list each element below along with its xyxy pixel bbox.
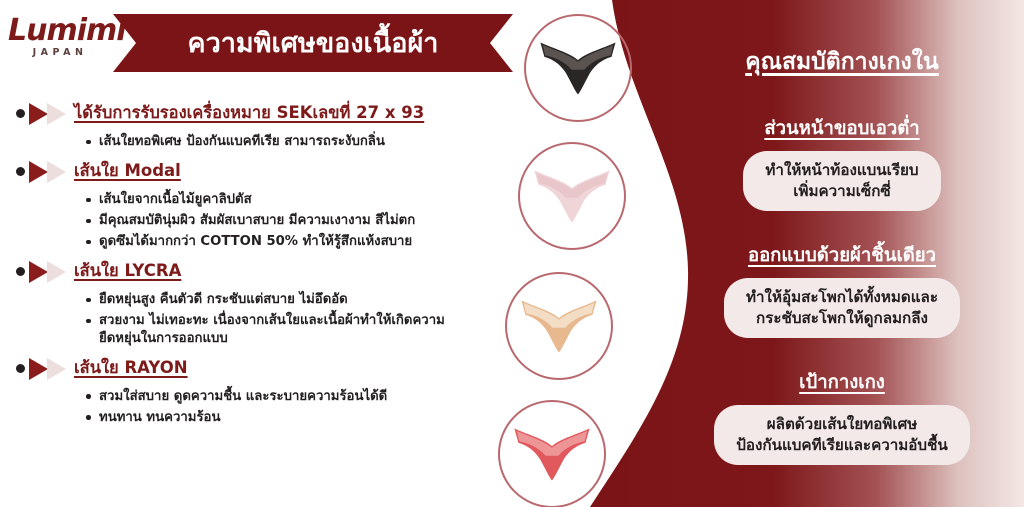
product-photo-black-lace bbox=[524, 14, 632, 122]
feature-sublist: สวมใส่สบาย ดูดความชื้น และระบายความร้อนไ… bbox=[0, 388, 500, 427]
infographic-canvas: Lumimi JAPAN ความพิเศษของเนื้อผ้า ได้รับ… bbox=[0, 0, 1024, 507]
fabric-features-list: ได้รับการรับรองเครื่องหมาย SEKเลขที่ 27 … bbox=[0, 96, 500, 430]
header-ribbon-banner: ความพิเศษของเนื้อผ้า bbox=[113, 14, 513, 72]
section-callout: ผลิตด้วยเส้นใยทอพิเศษ ป้องกันแบคทีเรียแล… bbox=[714, 405, 970, 465]
arrow-bullet-icon bbox=[14, 156, 74, 186]
property-section: เป้ากางเกง ผลิตด้วยเส้นใยทอพิเศษ ป้องกัน… bbox=[660, 368, 1024, 465]
list-item: เส้นใยทอพิเศษ ป้องกันแบคทีเรีย สามารถระง… bbox=[86, 133, 459, 151]
list-item: ดูดซึมได้มากกว่า COTTON 50% ทำให้รู้สึกแ… bbox=[86, 233, 459, 251]
feature-block: เส้นใย Modal เส้นใยจากเนื้อไม้ยูคาลิปตัส… bbox=[0, 154, 500, 251]
panty-illustration bbox=[512, 422, 592, 485]
list-item: สวยงาม ไม่เทอะทะ เนื่องจากเส้นใยและเนื้อ… bbox=[86, 312, 459, 347]
section-title: เป้ากางเกง bbox=[799, 368, 885, 397]
section-callout: ทำให้หน้าท้องแบนเรียบ เพิ่มความเซ็กซี่ bbox=[743, 151, 940, 211]
banner-title: ความพิเศษของเนื้อผ้า bbox=[113, 14, 513, 72]
product-photo-pink-lace bbox=[518, 142, 626, 250]
list-item: ทนทาน ทนความร้อน bbox=[86, 409, 459, 427]
callout-line: ผลิตด้วยเส้นใยทอพิเศษ bbox=[736, 414, 948, 435]
panty-illustration bbox=[519, 294, 599, 357]
list-item: สวมใส่สบาย ดูดความชื้น และระบายความร้อนไ… bbox=[86, 388, 459, 406]
list-item: มีคุณสมบัตินุ่มผิว สัมผัสเบาสบาย มีความเ… bbox=[86, 212, 459, 230]
list-item: ยืดหยุ่นสูง คืนตัวดี กระชับแต่สบาย ไม่อึ… bbox=[86, 291, 459, 309]
product-photo-nude-lace bbox=[505, 272, 613, 380]
section-title: ส่วนหน้าขอบเอวต่ำ bbox=[764, 114, 919, 143]
feature-sublist: ยืดหยุ่นสูง คืนตัวดี กระชับแต่สบาย ไม่อึ… bbox=[0, 291, 500, 347]
arrow-bullet-icon bbox=[14, 256, 74, 286]
section-title: ออกแบบด้วยผ้าชิ้นเดียว bbox=[748, 241, 936, 270]
feature-heading: ได้รับการรับรองเครื่องหมาย SEKเลขที่ 27 … bbox=[74, 100, 424, 126]
feature-block: เส้นใย LYCRA ยืดหยุ่นสูง คืนตัวดี กระชับ… bbox=[0, 254, 500, 347]
callout-line: กระชับสะโพกให้ดูกลมกลึง bbox=[746, 308, 938, 329]
callout-line: ทำให้อุ้มสะโพกได้ทั้งหมดและ bbox=[746, 287, 938, 308]
logo-wordmark: Lumimi bbox=[8, 16, 108, 46]
property-section: ออกแบบด้วยผ้าชิ้นเดียว ทำให้อุ้มสะโพกได้… bbox=[660, 241, 1024, 338]
feature-heading: เส้นใย RAYON bbox=[74, 355, 188, 381]
section-callout: ทำให้อุ้มสะโพกได้ทั้งหมดและ กระชับสะโพกใ… bbox=[724, 278, 960, 338]
feature-heading: เส้นใย Modal bbox=[74, 158, 181, 184]
arrow-bullet-icon bbox=[14, 353, 74, 383]
list-item: เส้นใยจากเนื้อไม้ยูคาลิปตัส bbox=[86, 191, 459, 209]
feature-block: ได้รับการรับรองเครื่องหมาย SEKเลขที่ 27 … bbox=[0, 96, 500, 151]
callout-line: เพิ่มความเซ็กซี่ bbox=[765, 181, 918, 202]
feature-block: เส้นใย RAYON สวมใส่สบาย ดูดความชื้น และร… bbox=[0, 351, 500, 427]
panty-illustration bbox=[532, 164, 612, 227]
logo-subtitle: JAPAN bbox=[8, 47, 108, 58]
panel-title: คุณสมบัติกางเกงใน bbox=[745, 44, 939, 80]
feature-sublist: เส้นใยจากเนื้อไม้ยูคาลิปตัส มีคุณสมบัติน… bbox=[0, 191, 500, 251]
feature-heading: เส้นใย LYCRA bbox=[74, 258, 181, 284]
brand-logo: Lumimi JAPAN bbox=[8, 16, 108, 58]
product-photo-red-lace bbox=[498, 400, 606, 507]
feature-sublist: เส้นใยทอพิเศษ ป้องกันแบคทีเรีย สามารถระง… bbox=[0, 133, 500, 151]
callout-line: ทำให้หน้าท้องแบนเรียบ bbox=[765, 160, 918, 181]
property-section: ส่วนหน้าขอบเอวต่ำ ทำให้หน้าท้องแบนเรียบ … bbox=[660, 114, 1024, 211]
callout-line: ป้องกันแบคทีเรียและความอับชื้น bbox=[736, 435, 948, 456]
panty-properties-panel: คุณสมบัติกางเกงใน ส่วนหน้าขอบเอวต่ำ ทำให… bbox=[660, 0, 1024, 507]
panty-illustration bbox=[538, 36, 618, 99]
arrow-bullet-icon bbox=[14, 98, 74, 128]
